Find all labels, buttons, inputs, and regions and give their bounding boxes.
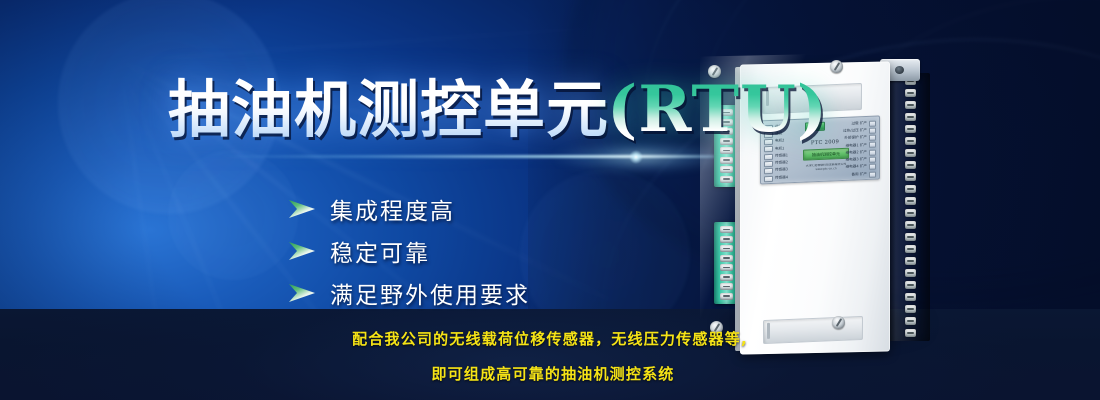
feature-item: 满足野外使用要求 (288, 274, 530, 312)
terminal-screw (720, 283, 733, 290)
terminal-screw (720, 226, 733, 233)
page-title: 抽油机测控单元(RTU) (168, 78, 828, 142)
terminal-screw (905, 269, 916, 277)
indicator-label: 传感器4 (775, 176, 788, 180)
feature-label: 集成程度高 (330, 192, 455, 226)
terminal-label-list: 过载 扩产 过热/过压 扩产 外部保护 扩产 继电器1 扩产 (834, 120, 876, 180)
led-icon (764, 146, 773, 152)
led-icon (764, 175, 773, 181)
light-streak (220, 155, 780, 158)
terminal-port-icon (869, 157, 876, 163)
feature-item: 稳定可靠 (288, 232, 530, 270)
indicator-label: 传感器2 (775, 161, 788, 165)
terminal-label: 继电器2 扩产 (846, 151, 867, 155)
terminal-port-icon (869, 149, 876, 155)
terminal-screw (720, 157, 733, 164)
terminal-screw (905, 89, 916, 97)
indicator-label: 电机1 (775, 147, 784, 151)
terminal-screw (720, 255, 733, 262)
terminal-label-row: 备用 扩产 (834, 171, 876, 180)
terminal-screw (905, 173, 916, 181)
terminal-label: 过热/过压 扩产 (843, 129, 867, 134)
feature-item: 集成程度高 (288, 190, 530, 228)
terminal-screw (905, 161, 916, 169)
caption-line-2: 即可组成高可靠的抽油机测控系统 (0, 367, 1100, 382)
arrow-bullet-icon (288, 283, 316, 303)
page-title-chinese: 抽油机测控单元 (168, 73, 609, 146)
terminal-screw (720, 166, 733, 173)
terminal-screw (905, 221, 916, 229)
arrow-bullet-icon (288, 241, 316, 261)
feature-label: 满足野外使用要求 (330, 276, 530, 310)
terminal-screw (905, 113, 916, 121)
product-banner: 运行 通讯 电机2 电机1 (0, 0, 1100, 400)
terminal-screw (905, 245, 916, 253)
terminal-screw (905, 185, 916, 193)
terminal-screw (905, 149, 916, 157)
led-icon (764, 161, 773, 167)
terminal-screw (720, 236, 733, 243)
terminal-port-icon (869, 164, 876, 170)
terminal-screw (905, 137, 916, 145)
terminal-screw (720, 293, 733, 300)
terminal-screw (905, 233, 916, 241)
terminal-screw (905, 293, 916, 301)
feature-list: 集成程度高 稳定可靠 满足野外使用要求 (288, 190, 530, 316)
terminal-port-icon (869, 142, 876, 148)
page-title-rtu: (RTU) (607, 72, 828, 147)
terminal-screw (905, 317, 916, 325)
arrow-bullet-icon (288, 199, 316, 219)
terminal-screw (905, 125, 916, 133)
terminal-screw (905, 281, 916, 289)
indicator-row: 传感器4 (764, 174, 804, 183)
light-streak-star (629, 150, 643, 164)
terminal-label: 过载 扩产 (851, 122, 867, 126)
right-terminal-strip (886, 73, 930, 341)
indicator-label: 传感器1 (775, 154, 788, 158)
terminal-screw (905, 197, 916, 205)
terminal-screw (720, 264, 733, 271)
terminal-screw (720, 274, 733, 281)
terminal-label: 继电器3 扩产 (846, 158, 867, 162)
terminal-label: 继电器1 扩产 (846, 144, 867, 148)
terminal-port-icon (869, 120, 876, 126)
terminal-screw (720, 147, 733, 154)
terminal-screw (720, 176, 733, 183)
terminal-screw (720, 245, 733, 252)
terminal-screw-column (905, 77, 918, 337)
terminal-port-icon (869, 127, 876, 133)
terminal-label: 备用 扩产 (851, 173, 867, 177)
terminal-screw (905, 305, 916, 313)
caption-block: 配合我公司的无线载荷位移传感器，无线压力传感器等, 即可组成高可靠的抽油机测控系… (0, 332, 1100, 400)
terminal-port-icon (869, 135, 876, 141)
terminal-label: 继电器4 扩产 (846, 165, 867, 169)
terminal-screw (905, 209, 916, 217)
enclosure-screw-icon (830, 60, 843, 73)
terminal-screw (905, 257, 916, 265)
feature-label: 稳定可靠 (330, 234, 430, 268)
terminal-label: 外部保护 扩产 (844, 136, 867, 141)
enclosure-screw-icon (832, 316, 845, 329)
led-icon (764, 168, 773, 174)
terminal-screw-column (720, 226, 734, 300)
terminal-screw (905, 101, 916, 109)
indicator-label: 传感器3 (775, 169, 788, 173)
led-icon (764, 154, 773, 160)
terminal-port-icon (869, 171, 876, 177)
caption-line-1: 配合我公司的无线载荷位移传感器，无线压力传感器等, (0, 332, 1100, 347)
